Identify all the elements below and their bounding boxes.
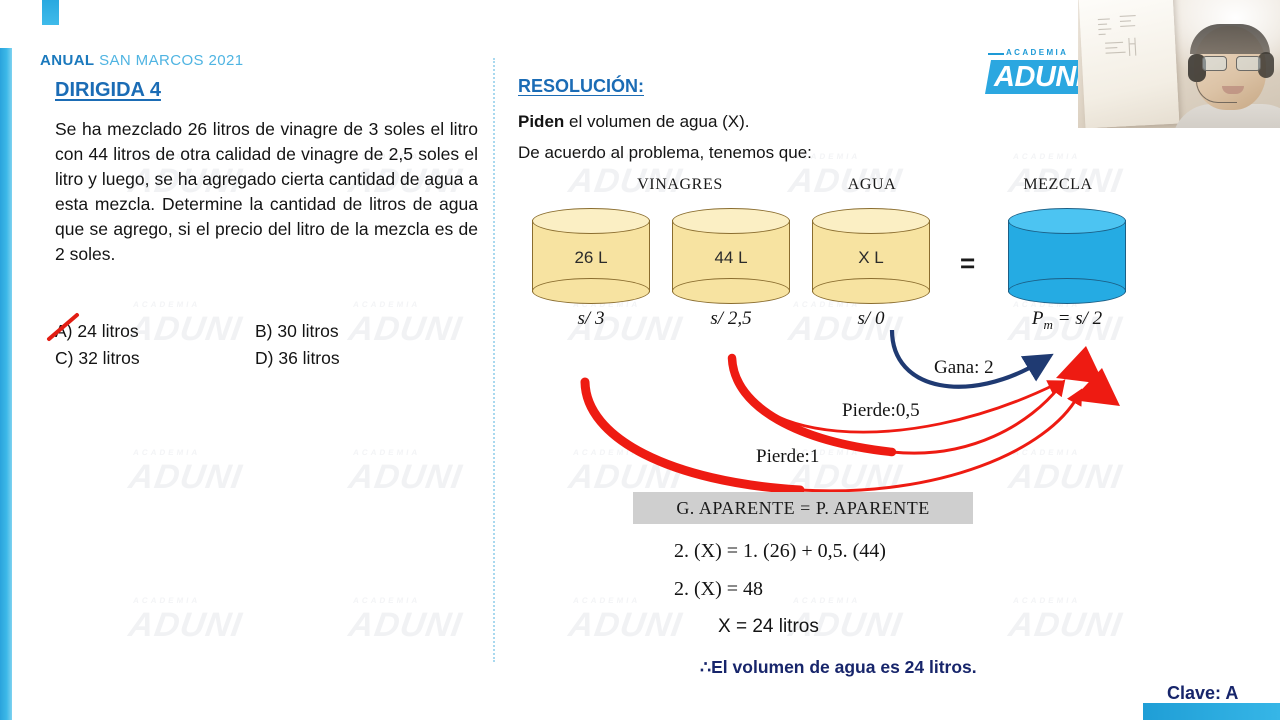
options-row: C) 32 litros D) 36 litros	[55, 345, 455, 372]
option-a-text: 24 litros	[77, 321, 138, 341]
group-label-vinagres: VINAGRES	[600, 176, 760, 194]
slide-canvas: ACADEMIAADUNI ACADEMIAADUNI ACADEMIAADUN…	[0, 0, 1280, 720]
option-a-key: A)	[55, 321, 73, 341]
option-c-key: C)	[55, 348, 73, 368]
watermark: ACADEMIAADUNI	[566, 596, 686, 645]
kicker-bold: ANUAL	[40, 52, 95, 69]
equation-3: X = 24 litros	[718, 616, 819, 638]
cylinder-top-ellipse	[672, 208, 790, 234]
group-label-agua: AGUA	[792, 176, 952, 194]
asks-line: Piden el volumen de agua (X).	[518, 112, 750, 132]
logo-rule-left	[988, 53, 1004, 55]
given-line: De acuerdo al problema, tenemos que:	[518, 143, 812, 163]
cylinder-volume-label: 44 L	[672, 248, 790, 268]
bottom-accent-bar	[1143, 703, 1280, 720]
cylinder-vinagre-2: 44 L	[672, 208, 790, 303]
cylinder-vinagre-1: 26 L	[532, 208, 650, 303]
asks-bold: Piden	[518, 112, 564, 131]
balance-box-text: G. APARENTE = P. APARENTE	[676, 498, 929, 519]
watermark-top-text: ACADEMIA	[572, 596, 686, 605]
watermark: ACADEMIAADUNI	[126, 448, 246, 497]
arrow-pierde-1-tail	[585, 382, 800, 490]
watermark-top-text: ACADEMIA	[792, 596, 906, 605]
cylinder-top-ellipse	[812, 208, 930, 234]
equation-2: 2. (X) = 48	[674, 578, 763, 601]
watermark: ACADEMIAADUNI	[126, 596, 246, 645]
option-a[interactable]: A) 24 litros	[55, 318, 255, 345]
options-row: A) 24 litros B) 30 litros	[55, 318, 455, 345]
watermark-top-text: ACADEMIA	[352, 596, 466, 605]
label-pierde-1: Pierde:1	[756, 446, 819, 468]
watermark-top-text: ACADEMIA	[1012, 596, 1126, 605]
watermark-top-text: ACADEMIA	[132, 448, 246, 457]
option-c-text: 32 litros	[78, 348, 139, 368]
cylinder-agua: X L	[812, 208, 930, 303]
option-b[interactable]: B) 30 litros	[255, 318, 455, 345]
top-accent-tab	[42, 0, 59, 25]
watermark-top-text: ACADEMIA	[132, 596, 246, 605]
label-gana: Gana: 2	[934, 357, 994, 379]
answer-key: Clave: A	[1167, 683, 1238, 704]
handwriting-marks-icon	[1094, 11, 1154, 62]
logo-academia-text: ACADEMIA	[1006, 48, 1068, 57]
cylinder-top-ellipse	[532, 208, 650, 234]
watermark-top-text: ACADEMIA	[1012, 152, 1126, 161]
kicker-rest: SAN MARCOS 2021	[95, 52, 244, 69]
option-d[interactable]: D) 36 litros	[255, 345, 455, 372]
option-b-key: B)	[255, 321, 273, 341]
watermark-text: ADUNI	[126, 606, 245, 644]
watermark-text: ADUNI	[346, 458, 465, 496]
option-b-text: 30 litros	[277, 321, 338, 341]
conclusion-text: ∴El volumen de agua es 24 litros.	[700, 657, 977, 678]
section-title: DIRIGIDA 4	[55, 79, 161, 102]
watermark-text: ADUNI	[346, 606, 465, 644]
watermark-text: ADUNI	[566, 606, 685, 644]
cylinder-volume-label: X L	[812, 248, 930, 268]
watermark-text: ADUNI	[1006, 606, 1125, 644]
option-d-text: 36 litros	[278, 348, 339, 368]
webcam-paper-sheet	[1079, 0, 1180, 128]
asks-rest: el volumen de agua (X).	[564, 112, 749, 131]
cylinder-volume-label: 26 L	[532, 248, 650, 268]
answer-options: A) 24 litros B) 30 litros C) 32 litros D…	[55, 318, 455, 372]
option-d-key: D)	[255, 348, 273, 368]
webcam-overlay[interactable]	[1078, 0, 1280, 128]
watermark: ACADEMIAADUNI	[346, 448, 466, 497]
watermark-top-text: ACADEMIA	[132, 300, 246, 309]
column-divider	[493, 58, 495, 662]
group-label-mezcla: MEZCLA	[978, 176, 1138, 194]
equals-sign: =	[960, 248, 975, 279]
watermark-text: ADUNI	[126, 458, 245, 496]
watermark-top-text: ACADEMIA	[352, 448, 466, 457]
course-kicker: ANUAL SAN MARCOS 2021	[40, 52, 243, 69]
watermark-top-text: ACADEMIA	[352, 300, 466, 309]
cylinder-top-ellipse	[1008, 208, 1126, 234]
watermark: ACADEMIAADUNI	[1006, 596, 1126, 645]
problem-statement: Se ha mezclado 26 litros de vinagre de 3…	[55, 117, 478, 267]
left-accent-bar	[0, 48, 12, 720]
watermark: ACADEMIAADUNI	[346, 596, 466, 645]
resolution-heading: RESOLUCIÓN:	[518, 76, 644, 97]
label-pierde-05: Pierde:0,5	[842, 400, 920, 422]
option-c[interactable]: C) 32 litros	[55, 345, 255, 372]
balance-box: G. APARENTE = P. APARENTE	[633, 492, 973, 524]
equation-1: 2. (X) = 1. (26) + 0,5. (44)	[674, 540, 886, 563]
cylinder-mezcla	[1008, 208, 1126, 303]
webcam-glasses-icon	[1202, 56, 1260, 69]
